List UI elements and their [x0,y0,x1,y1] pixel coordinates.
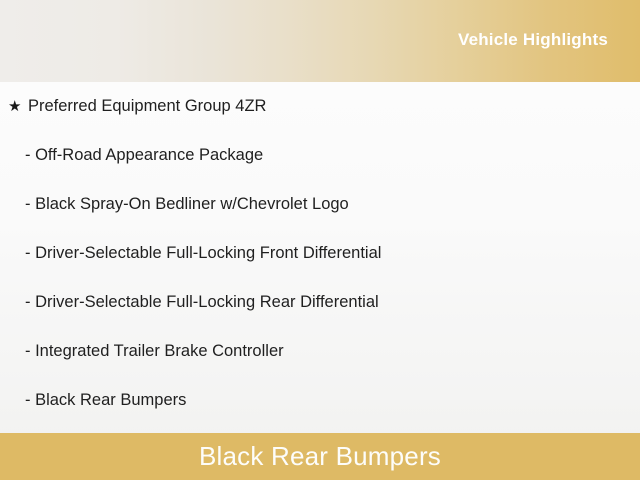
list-item: - Off-Road Appearance Package [0,131,640,180]
list-item: ★ Preferred Equipment Group 4ZR [0,82,640,131]
list-item-label: - Integrated Trailer Brake Controller [25,327,284,376]
list-item: - Driver-Selectable Full-Locking Front D… [0,229,640,278]
list-item: - Integrated Trailer Brake Controller [0,327,640,376]
star-bullet-icon: ★ [8,82,21,131]
vehicle-highlights-slide: Vehicle Highlights ★ Preferred Equipment… [0,0,640,480]
caption-bar: Black Rear Bumpers [0,433,640,480]
list-item-label: - Driver-Selectable Full-Locking Front D… [25,229,381,278]
list-item-label: - Black Spray-On Bedliner w/Chevrolet Lo… [25,180,349,229]
header-banner: Vehicle Highlights [0,0,640,82]
list-item-label: - Black Rear Bumpers [25,376,186,425]
vehicle-highlights-list: ★ Preferred Equipment Group 4ZR - Off-Ro… [0,82,640,425]
list-item: - Black Spray-On Bedliner w/Chevrolet Lo… [0,180,640,229]
list-item-label: Preferred Equipment Group 4ZR [28,82,266,131]
list-item: - Driver-Selectable Full-Locking Rear Di… [0,278,640,327]
list-item: - Black Rear Bumpers [0,376,640,425]
list-item-label: - Driver-Selectable Full-Locking Rear Di… [25,278,379,327]
caption-label: Black Rear Bumpers [199,441,441,472]
page-title: Vehicle Highlights [458,29,608,51]
list-item-label: - Off-Road Appearance Package [25,131,263,180]
